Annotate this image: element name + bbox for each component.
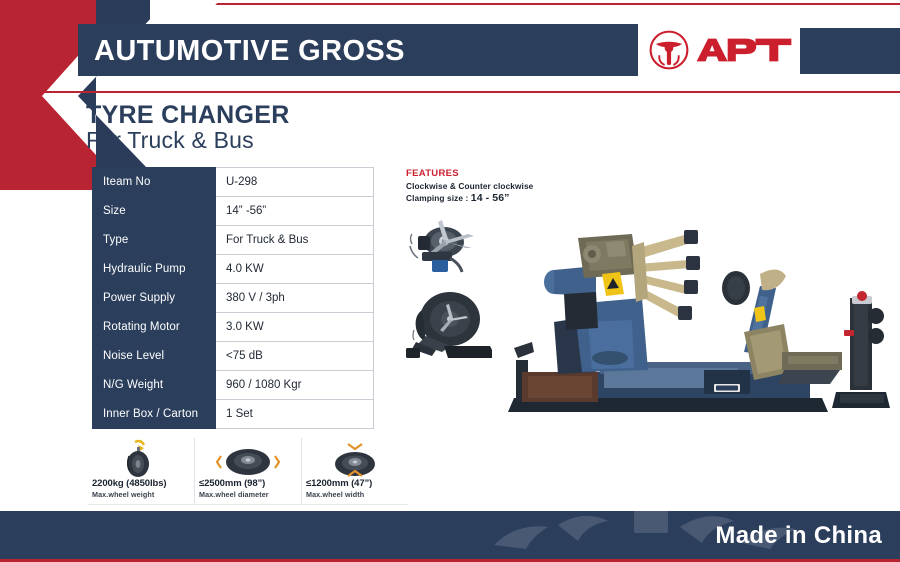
mounted-tyre-photo: [392, 286, 500, 364]
capability-value: ≤2500mm (98”): [195, 478, 301, 489]
footer-band: Made in China: [0, 511, 900, 559]
features-heading: FEATURES: [406, 168, 566, 179]
brand-logo: [648, 26, 793, 74]
spec-row-key: Iteam No: [93, 168, 216, 197]
spec-row-key: Noise Level: [93, 342, 216, 371]
capability-label: Max.wheel weight: [88, 490, 194, 499]
spec-row-key: N/G Weight: [93, 371, 216, 400]
features-block: FEATURES Clockwise & Counter clockwise C…: [406, 168, 566, 204]
tyre-changer-machine-photo: [492, 212, 892, 428]
spec-row: Power Supply380 V / 3ph: [93, 284, 374, 313]
spec-row-value: U-298: [216, 168, 374, 197]
spec-row: Inner Box / Carton1 Set: [93, 400, 374, 429]
features-clamping-label: Clamping size :: [406, 193, 468, 203]
spec-row: Iteam NoU-298: [93, 168, 374, 197]
header-underline-rule: [0, 91, 900, 93]
spec-row: Hydraulic Pump4.0 KW: [93, 255, 374, 284]
tyre-width-arrows-icon: [302, 438, 408, 478]
product-title: TYRE CHANGER: [86, 101, 290, 130]
made-in-china-label: Made in China: [715, 511, 882, 559]
spec-row-key: Inner Box / Carton: [93, 400, 216, 429]
features-clamping-line: Clamping size : 14 - 56”: [406, 192, 566, 204]
clamping-head-photo: [398, 208, 498, 280]
spec-row-key: Size: [93, 197, 216, 226]
hoisted-tyre-weight-icon: [88, 438, 194, 478]
spec-row-key: Power Supply: [93, 284, 216, 313]
spec-row-key: Rotating Motor: [93, 313, 216, 342]
features-rotation-line: Clockwise & Counter clockwise: [406, 181, 566, 191]
specification-table-body: Iteam NoU-298Size14” -56”TypeFor Truck &…: [93, 168, 374, 429]
spec-row-key: Type: [93, 226, 216, 255]
spec-row-value: <75 dB: [216, 342, 374, 371]
spec-row-value: 14” -56”: [216, 197, 374, 226]
spec-row-value: 380 V / 3ph: [216, 284, 374, 313]
spec-row: Size14” -56”: [93, 197, 374, 226]
spec-row: Rotating Motor3.0 KW: [93, 313, 374, 342]
tyre-diameter-arrows-icon: [195, 438, 301, 478]
capability-label: Max.wheel diameter: [195, 490, 301, 499]
capability-strip-rule: [88, 504, 408, 505]
spec-row: N/G Weight960 / 1080 Kgr: [93, 371, 374, 400]
spec-row: Noise Level<75 dB: [93, 342, 374, 371]
spec-row-value: For Truck & Bus: [216, 226, 374, 255]
capability-value: 2200kg (4850lbs): [88, 478, 194, 489]
apt-wordmark-icon: [695, 32, 793, 68]
spec-row: TypeFor Truck & Bus: [93, 226, 374, 255]
specification-table: Iteam NoU-298Size14” -56”TypeFor Truck &…: [92, 167, 374, 429]
spec-row-value: 3.0 KW: [216, 313, 374, 342]
features-clamping-value: 14 - 56”: [471, 192, 510, 204]
capability-item: ≤1200mm (47”)Max.wheel width: [301, 438, 408, 504]
spec-row-value: 960 / 1080 Kgr: [216, 371, 374, 400]
capability-item: ≤2500mm (98”)Max.wheel diameter: [194, 438, 301, 504]
apt-bull-emblem-icon: [648, 29, 690, 71]
capability-value: ≤1200mm (47”): [302, 478, 408, 489]
spec-row-value: 4.0 KW: [216, 255, 374, 284]
product-subtitle: For Truck & Bus: [86, 127, 254, 154]
spec-row-key: Hydraulic Pump: [93, 255, 216, 284]
header-right-block: [800, 28, 900, 74]
spec-sheet-page: AUTUMOTIVE GROSS TYRE CHANGER For Truck …: [0, 0, 900, 562]
capability-strip: 2200kg (4850lbs)Max.wheel weight≤2500mm …: [88, 438, 408, 504]
capability-label: Max.wheel width: [302, 490, 408, 499]
capability-item: 2200kg (4850lbs)Max.wheel weight: [88, 438, 194, 504]
page-title: AUTUMOTIVE GROSS: [94, 30, 634, 72]
spec-row-value: 1 Set: [216, 400, 374, 429]
